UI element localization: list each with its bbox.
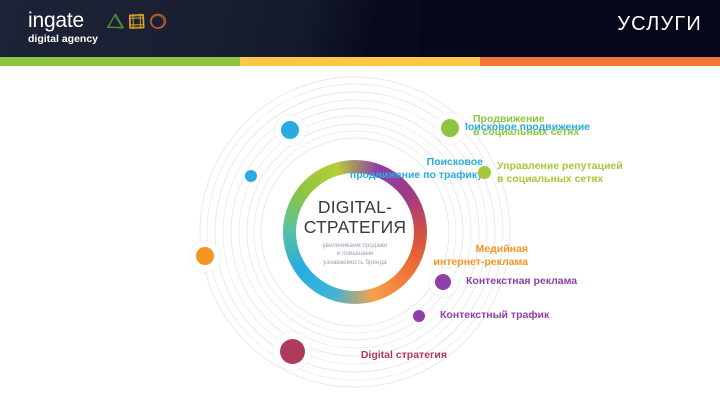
stripe-segment-green [0,57,240,66]
node-label-digital-strategy[interactable]: Digital стратегия [361,349,447,362]
center-content: DIGITAL- СТРАТЕГИЯ увеличиваем продажи и… [296,173,414,291]
node-label-context-traffic[interactable]: Контекстный трафик [440,309,549,322]
node-dot-digital-strategy[interactable] [280,339,305,364]
stripe-segment-yellow [240,57,480,66]
circle-mark [151,14,166,28]
triangle-mark [108,14,124,28]
node-label-smm[interactable]: Продвижение в социальных сетях [473,113,579,139]
slide-canvas: ingate digital agency [0,0,720,405]
node-label-media-ads[interactable]: Медийная интернет-реклама [434,243,529,269]
node-dot-media-ads[interactable] [196,247,214,265]
node-dot-seo-promotion[interactable] [281,121,299,139]
logo-shape-marks [105,11,167,38]
slide-header: ingate digital agency [0,0,720,57]
square-mark [129,14,144,29]
node-dot-context-traffic[interactable] [413,310,425,322]
center-title: DIGITAL- СТРАТЕГИЯ [296,197,414,237]
accent-stripe [0,57,720,66]
node-label-seo-traffic[interactable]: Поисковое продвижение по трафику [350,156,483,182]
logo-wordmark: ingate [28,9,98,32]
strategy-diagram: DIGITAL- СТРАТЕГИЯ увеличиваем продажи и… [0,66,720,405]
center-subtitle: увеличиваем продажи и повышаем узнаваемо… [322,242,387,267]
node-dot-serm[interactable] [478,166,491,179]
node-dot-smm[interactable] [441,119,459,137]
node-dot-context-ads[interactable] [435,274,451,290]
node-dot-seo-traffic[interactable] [245,170,257,182]
brand-logo: ingate digital agency [28,9,98,46]
node-label-context-ads[interactable]: Контекстная реклама [466,275,577,288]
stripe-segment-orange [480,57,720,66]
page-title: УСЛУГИ [617,13,702,36]
node-label-serm[interactable]: Управление репутацией в социальных сетях [497,160,623,186]
logo-tagline: digital agency [28,33,98,46]
